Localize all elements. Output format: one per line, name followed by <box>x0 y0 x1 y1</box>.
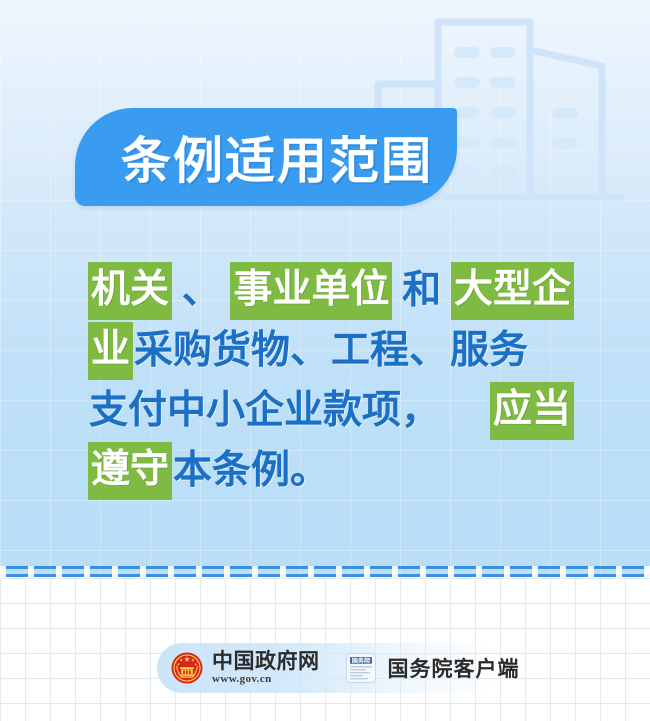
guowuyuan-app-name: 国务院客户端 <box>388 653 520 683</box>
divider-perforation-ticks <box>0 566 650 577</box>
gov-site-name: 中国政府网 <box>212 650 320 673</box>
gov-site-url: www.gov.cn <box>212 673 320 686</box>
copy-line: 业采购货物、工程、服务 <box>88 322 574 380</box>
copy-highlight-segment: 业 <box>88 322 133 380</box>
copy-highlight-segment: 遵守 <box>88 442 172 500</box>
title-banner: 条例适用范围 <box>75 108 457 206</box>
poster-root: 条例适用范围 机关、事业单位和大型企业采购货物、工程、服务支付中小企业款项，应当… <box>0 0 650 721</box>
copy-text-segment: 支付中小企业款项， <box>88 385 441 437</box>
copy-highlight-segment: 应当 <box>490 382 574 440</box>
copy-text-segment: 服务 <box>449 325 529 377</box>
copy-text-segment: 采购货物、 <box>133 325 330 377</box>
guowuyuan-app-icon: 国务院 <box>346 653 376 683</box>
copy-text-segment: 和 <box>401 265 442 317</box>
copy-highlight-segment: 事业单位 <box>230 262 392 320</box>
copy-line: 机关、事业单位和大型企 <box>88 262 574 320</box>
copy-highlight-segment: 机关 <box>88 262 172 320</box>
copy-text-segment: 、 <box>181 265 222 317</box>
footer-credit-bar: 中国政府网 www.gov.cn 国务院 国务院客户端 <box>157 643 497 693</box>
svg-text:国务院: 国务院 <box>351 657 370 665</box>
copy-line: 遵守本条例。 <box>88 442 574 500</box>
copy-line: 支付中小企业款项，应当 <box>88 382 574 440</box>
copy-text-segment: 本条例。 <box>172 445 330 497</box>
dashed-divider <box>0 566 650 578</box>
page-title: 条例适用范围 <box>75 108 457 206</box>
copy-highlight-segment: 大型企 <box>451 262 574 320</box>
gov-site-block: 中国政府网 www.gov.cn <box>212 650 320 686</box>
body-copy: 机关、事业单位和大型企业采购货物、工程、服务支付中小企业款项，应当遵守本条例。 <box>88 262 574 502</box>
copy-text-segment: 工程、 <box>330 325 449 377</box>
china-national-emblem-icon <box>171 652 203 684</box>
